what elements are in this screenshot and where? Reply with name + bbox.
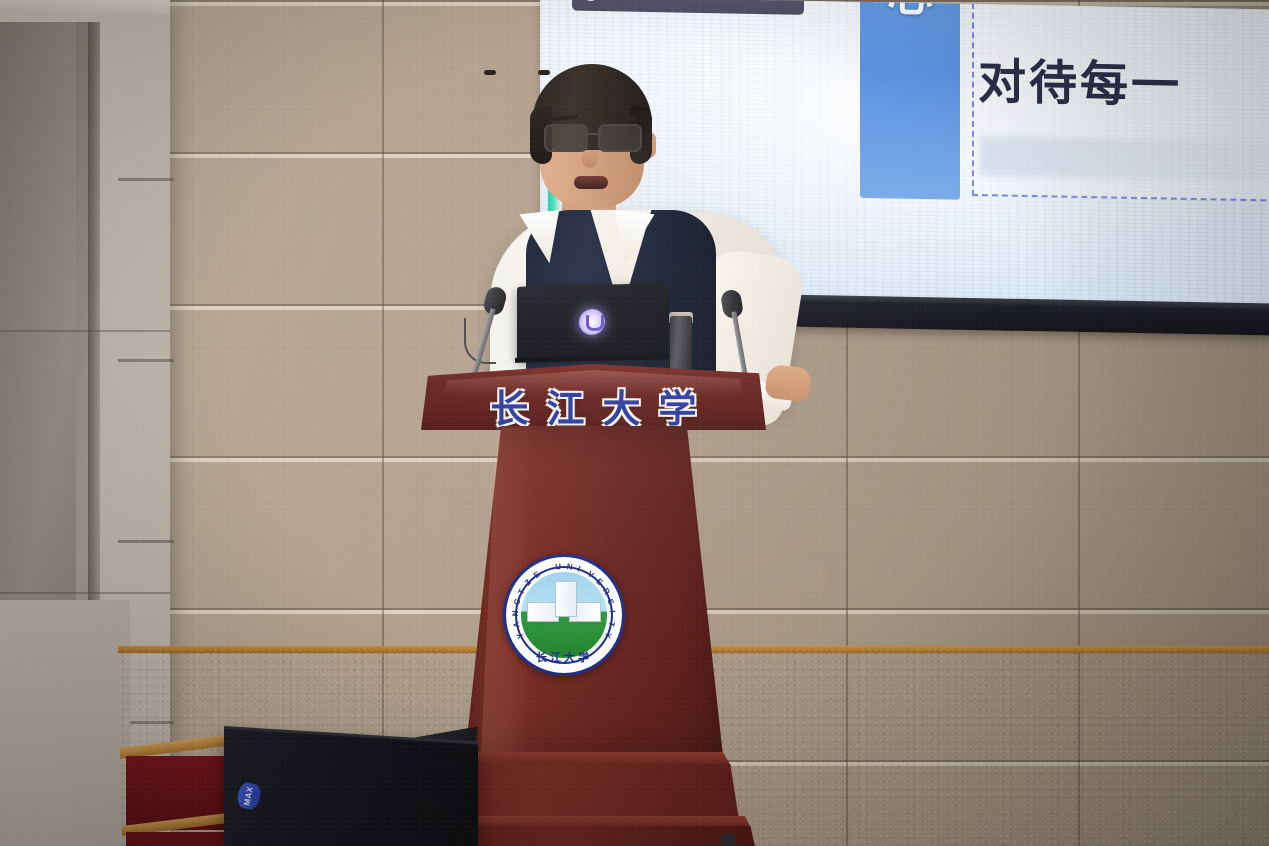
column-seam bbox=[0, 330, 170, 332]
toolbar-dot-icon bbox=[582, 0, 599, 1]
lectern-plinth-top bbox=[457, 752, 731, 766]
emblem-ring-char: U bbox=[555, 562, 562, 572]
close-icon: ✕ bbox=[769, 0, 782, 3]
glasses-bridge bbox=[584, 133, 602, 135]
eye-right bbox=[538, 70, 550, 75]
emblem-ring-char: I bbox=[576, 564, 581, 573]
eyeglasses bbox=[544, 124, 642, 150]
emblem-ring-char: Y bbox=[603, 631, 613, 640]
emblem-ring-char: T bbox=[607, 621, 617, 628]
slide-body-text: 对待每一 bbox=[978, 42, 1182, 116]
lectern-base bbox=[433, 826, 757, 846]
column-seam bbox=[0, 592, 170, 594]
emblem-chinese-text: 长江大学 bbox=[506, 649, 622, 665]
presenter-hand bbox=[764, 364, 811, 402]
lectern-cable-connector bbox=[721, 834, 735, 846]
toolbar-label: 点击添加... bbox=[610, 0, 734, 3]
emblem-ring-char: S bbox=[606, 598, 616, 606]
mouth bbox=[574, 176, 608, 189]
emblem-ring-char: R bbox=[601, 587, 612, 596]
emblem-inner-scene bbox=[521, 572, 607, 658]
eye-left bbox=[484, 70, 496, 75]
laptop bbox=[517, 283, 667, 361]
lectern-plinth bbox=[449, 764, 739, 820]
lectern-inscription: 长江大学 bbox=[421, 378, 766, 433]
emblem-building-tower bbox=[555, 581, 577, 617]
stage-side-wall bbox=[0, 600, 130, 846]
emblem-ring-char: G bbox=[512, 598, 522, 606]
lens-left bbox=[544, 124, 588, 152]
nose bbox=[582, 150, 598, 168]
emblem-ring-char: A bbox=[512, 621, 522, 628]
emblem-ring-char: Y bbox=[515, 631, 525, 640]
university-emblem: YANGTZE UNIVERSITY 长江大学 bbox=[503, 554, 625, 676]
emblem-ring-char: N bbox=[566, 562, 573, 572]
stage-monitor-speaker bbox=[224, 729, 478, 846]
slide-faint-text-block bbox=[980, 136, 1269, 181]
photo-scene: 点击添加... ✕ 心 保持平常 对待每一 bbox=[0, 0, 1269, 846]
lens-right bbox=[598, 124, 642, 152]
slide-blue-panel-char: 心 bbox=[860, 0, 960, 26]
emblem-ring-char: I bbox=[608, 610, 617, 613]
slide-blue-panel: 心 bbox=[860, 0, 960, 200]
laptop-logo-icon bbox=[579, 309, 605, 336]
emblem-ring-char: N bbox=[511, 610, 520, 616]
